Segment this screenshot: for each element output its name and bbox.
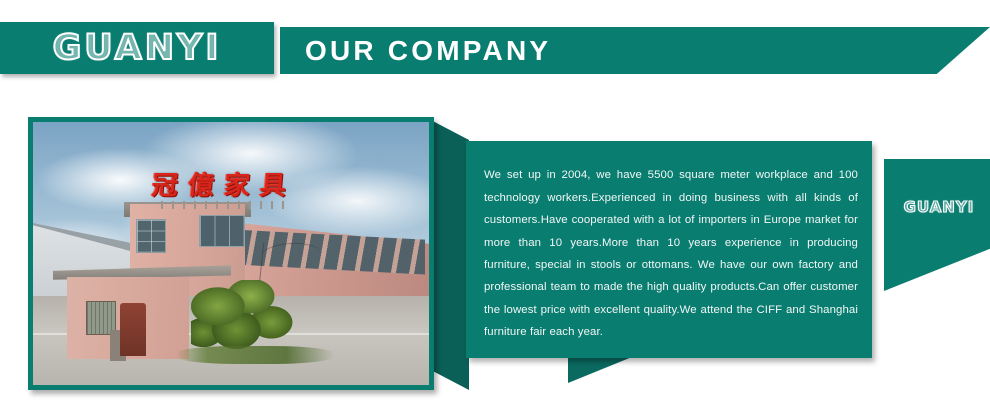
brand-logo-text: GUANYI <box>53 28 222 68</box>
brand-side-tab-label-wrap: GUANYI <box>889 198 989 217</box>
photo-porch-door <box>120 303 146 356</box>
roof-sign-char-1: 冠 <box>151 173 179 199</box>
brand-side-tab <box>884 159 990 291</box>
roof-sign-char-3: 家 <box>223 173 251 199</box>
roof-sign-char-4: 具 <box>259 173 287 199</box>
company-photo-frame: 冠 億 家 具 <box>28 117 434 390</box>
brand-logo-mark: GUANYI <box>0 22 274 74</box>
company-info-panel: We set up in 2004, we have 5500 square m… <box>466 141 872 358</box>
company-photo: 冠 億 家 具 <box>33 122 429 385</box>
company-description: We set up in 2004, we have 5500 square m… <box>484 164 858 343</box>
photo-block-window-left <box>136 219 166 253</box>
roof-sign-char-2: 億 <box>187 173 215 199</box>
photo-block-window-right <box>199 215 245 247</box>
photo-bushes <box>191 280 294 354</box>
panel-tail <box>568 357 632 383</box>
photo-grass-strip <box>176 346 334 364</box>
brand-logo-box[interactable]: GUANYI <box>0 22 274 74</box>
page-title: OUR COMPANY <box>305 30 551 72</box>
brand-side-tab-text: GUANYI <box>904 198 975 216</box>
our-company-banner: OUR COMPANY GUANYI 冠 億 家 具 <box>0 0 990 407</box>
photo-roof-sign: 冠 億 家 具 <box>152 169 287 203</box>
